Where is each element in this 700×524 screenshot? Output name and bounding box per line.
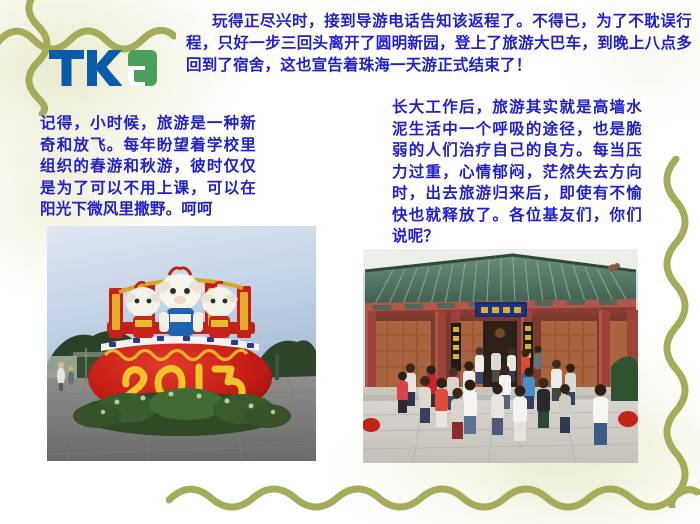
photo-palace-tourists bbox=[363, 249, 638, 463]
body-text-left: 记得，小时候，旅游是一种新奇和放飞。每年盼望着学校里组织的春游和秋游，彼时仅仅是… bbox=[40, 113, 256, 221]
tkg-logo bbox=[48, 44, 158, 90]
body-text-right: 长大工作后，旅游其实就是高墙水泥生活中一个呼吸的途径，也是脆弱的人们治疗自己的良… bbox=[392, 97, 642, 248]
decorative-wavy-rule-bottom-horizontal bbox=[166, 476, 700, 516]
photo-2015-sculpture bbox=[47, 226, 316, 461]
slide-canvas: 玩得正尽兴时，接到导游电话告知该返程了。不得已，为了不耽误行程，只好一步三回头离… bbox=[0, 0, 700, 524]
decorative-wavy-rule-right-vertical bbox=[652, 156, 696, 508]
body-text-top: 玩得正尽兴时，接到导游电话告知该返程了。不得已，为了不耽误行程，只好一步三回头离… bbox=[186, 10, 692, 76]
